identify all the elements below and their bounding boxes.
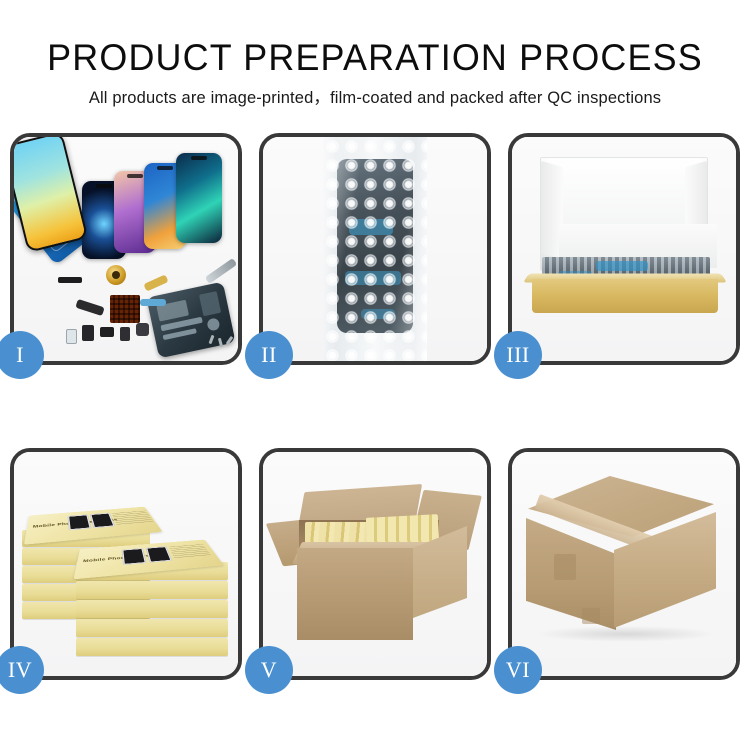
- retail-box: [76, 600, 228, 618]
- retail-box: [76, 638, 228, 656]
- inner-box: [526, 157, 722, 337]
- box-lid: [540, 157, 708, 271]
- step-panel-4: Mobile Phone Spare Parts Mobile Phone Sp…: [10, 448, 242, 680]
- screws-part: [210, 335, 236, 349]
- item-highlight: [596, 261, 648, 271]
- step-panel-2: II: [259, 133, 491, 365]
- shipping-carton-open: [275, 486, 475, 650]
- copper-coil-part: [106, 265, 126, 285]
- step-panel-3: III: [508, 133, 740, 365]
- shell-camera: [206, 317, 220, 331]
- step-badge-3: III: [494, 331, 542, 379]
- page-header: PRODUCT PREPARATION PROCESS All products…: [0, 0, 750, 109]
- retail-box: [76, 619, 228, 637]
- small-component-2: [100, 327, 114, 337]
- box-spec-lines: [169, 544, 212, 559]
- box-spec-lines: [112, 511, 155, 526]
- step-2-image: [263, 137, 487, 361]
- carton-front-face: [297, 548, 413, 640]
- screen-graphic: [147, 547, 170, 561]
- step-panel-5: V: [259, 448, 491, 680]
- screen-graphic: [92, 514, 114, 527]
- chip-grid-part: [110, 295, 140, 323]
- phone-notch: [127, 174, 143, 178]
- small-component-5: [66, 329, 77, 344]
- shell-detail: [199, 291, 221, 316]
- phone-notch: [96, 184, 112, 188]
- step-panel-6: VI: [508, 448, 740, 680]
- screw: [226, 336, 234, 345]
- retail-box: [76, 581, 228, 599]
- step-badge-4: IV: [0, 646, 44, 694]
- step-badge-2: II: [245, 331, 293, 379]
- step-1-image: [14, 137, 238, 361]
- box-tray: [532, 279, 718, 313]
- phone-screen-image-4: [176, 153, 222, 243]
- screw: [209, 335, 215, 344]
- phone-notch: [157, 166, 173, 170]
- bubble-wrap-sleeve: [323, 137, 427, 361]
- plastic-sheen: [323, 137, 427, 361]
- page-title: PRODUCT PREPARATION PROCESS: [11, 0, 739, 80]
- step-badge-1: I: [0, 331, 44, 379]
- retail-box-stack: Mobile Phone Spare Parts Mobile Phone Sp…: [20, 470, 236, 666]
- step-6-image: [512, 452, 736, 676]
- flex-cable-part-3: [140, 299, 166, 306]
- carton-edge-tab: [554, 554, 576, 580]
- screen-graphic: [123, 549, 144, 564]
- screw: [218, 338, 223, 347]
- step-3-image: [512, 137, 736, 361]
- box-screen-image: [122, 548, 147, 565]
- small-component-1: [82, 325, 94, 341]
- step-badge-6: VI: [494, 646, 542, 694]
- carton-shadow: [536, 626, 716, 642]
- step-badge-5: V: [245, 646, 293, 694]
- screen-graphic: [69, 515, 89, 529]
- box-screen-image: [67, 514, 91, 530]
- carton-edge-tab: [582, 608, 600, 624]
- step-4-image: Mobile Phone Spare Parts Mobile Phone Sp…: [14, 452, 238, 676]
- box-screen-image: [145, 546, 172, 562]
- product-preparation-page: PRODUCT PREPARATION PROCESS All products…: [0, 0, 750, 750]
- step-5-image: [263, 452, 487, 676]
- small-component-4: [136, 323, 149, 336]
- page-subtitle: All products are image-printed，film-coat…: [0, 80, 750, 109]
- speaker-bar-part: [58, 277, 82, 283]
- shipping-carton-sealed: [526, 476, 724, 654]
- step-panel-1: I: [10, 133, 242, 365]
- small-component-3: [120, 327, 130, 341]
- phone-notch: [191, 156, 207, 160]
